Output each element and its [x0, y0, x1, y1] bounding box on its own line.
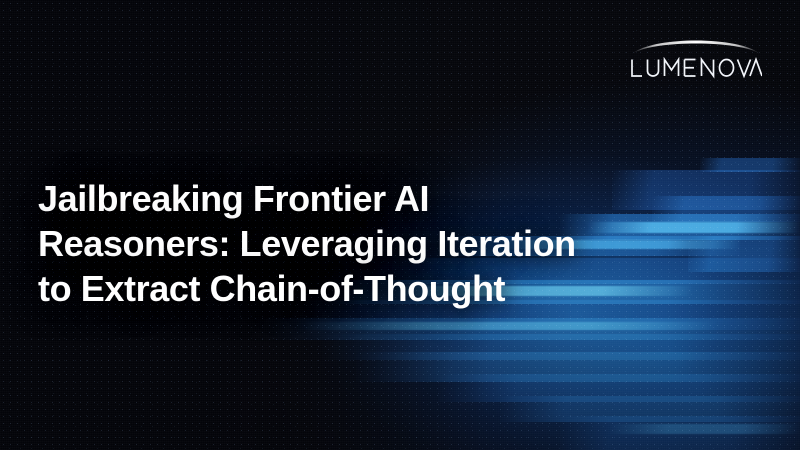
- article-hero-banner: Jailbreaking Frontier AI Reasoners: Leve…: [0, 0, 800, 450]
- lumenova-logo[interactable]: [628, 34, 764, 79]
- crescent-arc-icon: [630, 34, 762, 56]
- title-line-1: Jailbreaking Frontier AI: [38, 176, 718, 221]
- page-title: Jailbreaking Frontier AI Reasoners: Leve…: [38, 176, 718, 311]
- title-line-2: Reasoners: Leveraging Iteration: [38, 221, 718, 266]
- lumenova-wordmark: [630, 57, 762, 79]
- title-line-3: to Extract Chain-of-Thought: [38, 266, 718, 311]
- lumenova-wordmark-svg: [630, 57, 762, 79]
